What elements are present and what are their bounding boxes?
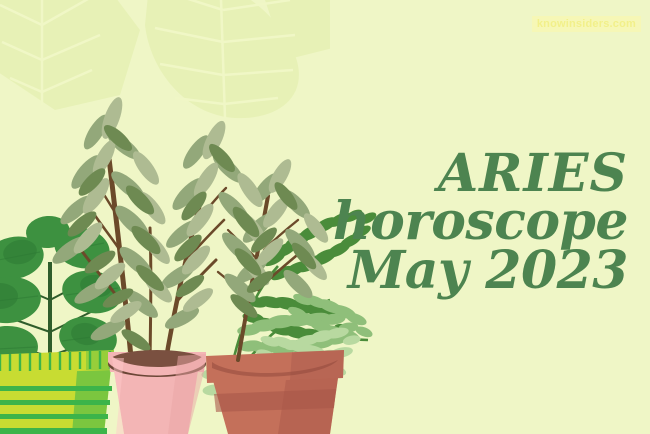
green-striped-pot: [0, 350, 114, 434]
watermark: knowinsiders.com: [532, 16, 641, 32]
title-line-date: May 2023: [333, 247, 628, 295]
poster-title: ARIES horoscope May 2023: [333, 150, 628, 295]
pink-pot: [108, 350, 206, 434]
terracotta-pot: [206, 350, 344, 434]
olive-branch-plant: [49, 95, 333, 380]
poster-canvas: knowinsiders.com ARIES horoscope May 202…: [0, 0, 650, 434]
